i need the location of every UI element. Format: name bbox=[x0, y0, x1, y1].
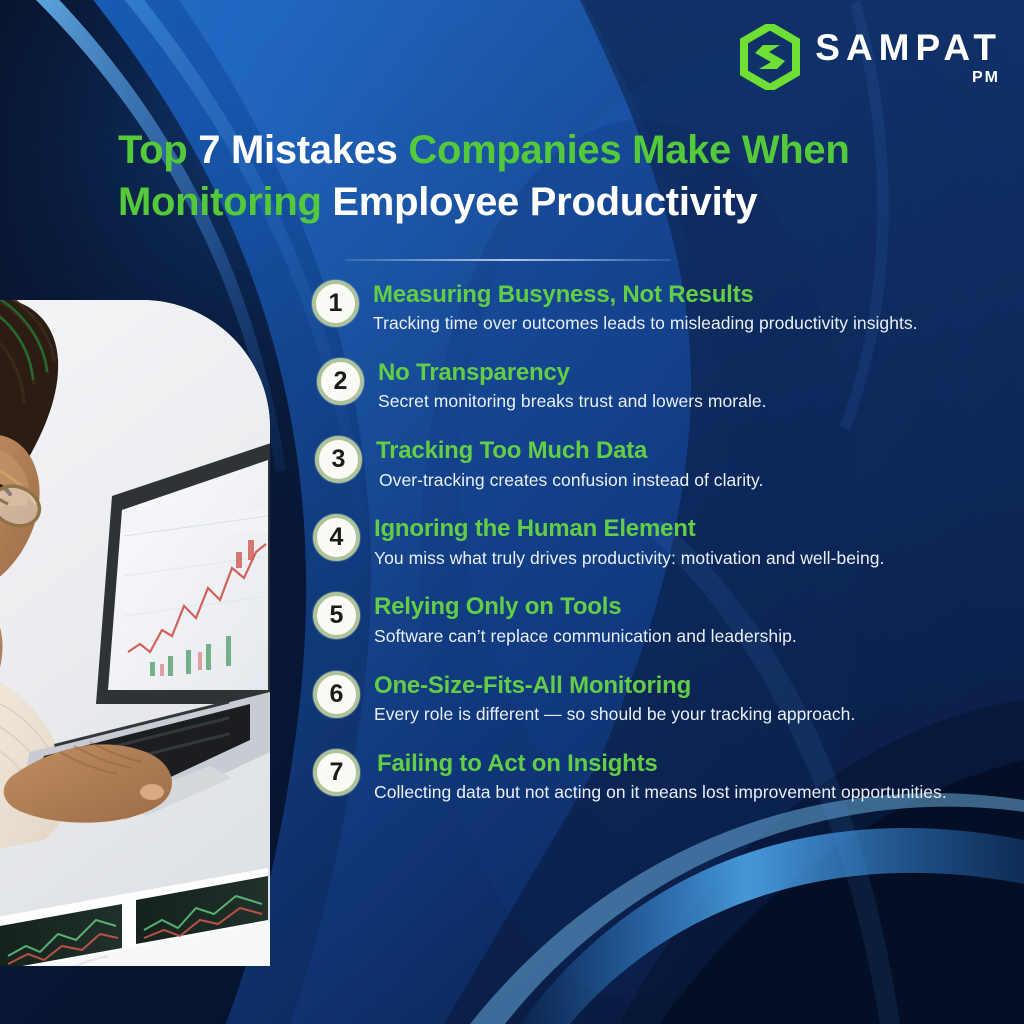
list-item-heading: Measuring Busyness, Not Results bbox=[373, 281, 1018, 309]
hero-photo bbox=[0, 300, 270, 966]
list-item-number-badge: 2 bbox=[317, 358, 364, 405]
list-item: 3 Tracking Too Much Data Over-tracking c… bbox=[315, 436, 1018, 492]
list-item-heading: No Transparency bbox=[378, 359, 1018, 387]
list-item: 7 Failing to Act on Insights Collecting … bbox=[313, 749, 1018, 805]
brand-subtitle: PM bbox=[972, 70, 1000, 86]
list-item-heading: Relying Only on Tools bbox=[374, 593, 1018, 621]
list-item-heading: Failing to Act on Insights bbox=[377, 750, 1018, 778]
list-item-number-badge: 1 bbox=[312, 280, 359, 327]
list-item-heading: Tracking Too Much Data bbox=[376, 437, 1018, 465]
list-item: 2 No Transparency Secret monitoring brea… bbox=[317, 358, 1018, 414]
list-item-description: Tracking time over outcomes leads to mis… bbox=[373, 312, 1018, 336]
list-item-number-badge: 4 bbox=[313, 514, 360, 561]
brand-logo[interactable]: SAMPAT PM bbox=[739, 24, 1002, 90]
sampat-hexagon-logo-icon bbox=[739, 24, 801, 90]
list-item-number-badge: 7 bbox=[313, 749, 360, 796]
list-item-number-badge: 3 bbox=[315, 436, 362, 483]
mistakes-list: 1 Measuring Busyness, Not Results Tracki… bbox=[312, 280, 1018, 805]
list-item-heading: One-Size-Fits-All Monitoring bbox=[374, 672, 1018, 700]
list-item-description: Over-tracking creates confusion instead … bbox=[379, 469, 1018, 493]
page-title: Top 7 Mistakes Companies Make When Monit… bbox=[118, 124, 978, 228]
title-seg-monitoring: Monitoring bbox=[118, 180, 332, 224]
list-item: 5 Relying Only on Tools Software can’t r… bbox=[313, 592, 1018, 648]
list-item-description: Secret monitoring breaks trust and lower… bbox=[378, 390, 1018, 414]
infographic-poster: SAMPAT PM Top 7 Mistakes Companies Make … bbox=[0, 0, 1024, 1024]
title-seg-seven-mistakes: 7 Mistakes bbox=[198, 128, 408, 172]
title-seg-employee-productivity: Employee Productivity bbox=[332, 180, 757, 224]
title-seg-companies-make-when: Companies Make When bbox=[408, 128, 849, 172]
list-item-number-badge: 5 bbox=[313, 592, 360, 639]
list-item-description: Software can’t replace communication and… bbox=[374, 625, 1018, 649]
list-item-description: You miss what truly drives productivity:… bbox=[374, 547, 1018, 571]
list-item-description: Every role is different — so should be y… bbox=[374, 703, 1018, 727]
brand-name: SAMPAT bbox=[815, 29, 1002, 66]
list-item: 4 Ignoring the Human Element You miss wh… bbox=[313, 514, 1018, 570]
list-item-heading: Ignoring the Human Element bbox=[374, 515, 1018, 543]
list-item-description: Collecting data but not acting on it mea… bbox=[374, 781, 1018, 805]
list-item: 1 Measuring Busyness, Not Results Tracki… bbox=[312, 280, 1018, 336]
title-seg-top: Top bbox=[118, 128, 198, 172]
list-item: 6 One-Size-Fits-All Monitoring Every rol… bbox=[313, 671, 1018, 727]
list-item-number-badge: 6 bbox=[313, 671, 360, 718]
title-divider bbox=[345, 259, 671, 261]
photo-illustration bbox=[0, 300, 270, 966]
